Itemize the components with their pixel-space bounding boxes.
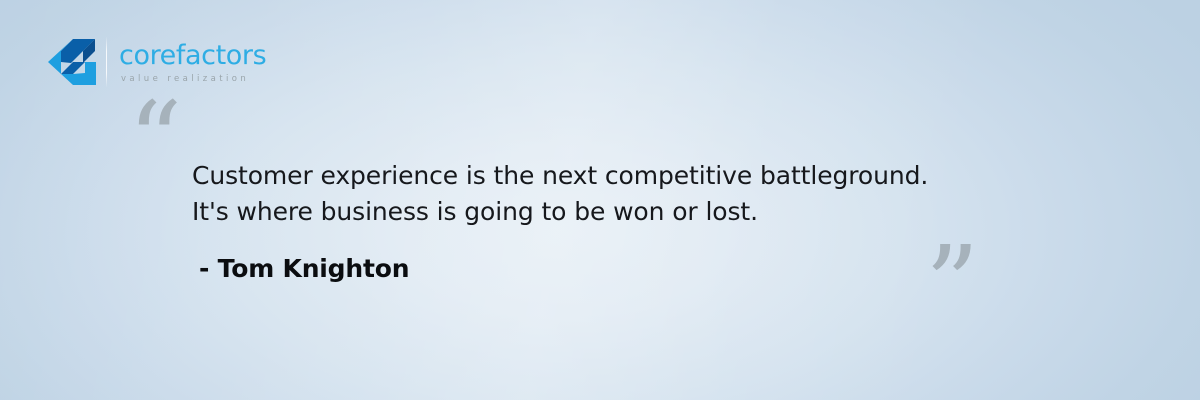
quote-card: corefactors value realization “ Customer… <box>0 0 1200 400</box>
closing-quote-icon: ” <box>925 232 979 338</box>
corefactors-chevron-mark <box>44 38 96 86</box>
opening-quote-icon: “ <box>128 88 182 194</box>
logo-divider <box>106 37 107 87</box>
quote-line-2: It's where business is going to be won o… <box>192 194 1052 230</box>
quote-line-1: Customer experience is the next competit… <box>192 158 1052 194</box>
logo-wordmark: corefactors <box>119 42 266 69</box>
logo-text-lockup: corefactors value realization <box>119 40 266 84</box>
quote-body: Customer experience is the next competit… <box>192 158 1052 283</box>
